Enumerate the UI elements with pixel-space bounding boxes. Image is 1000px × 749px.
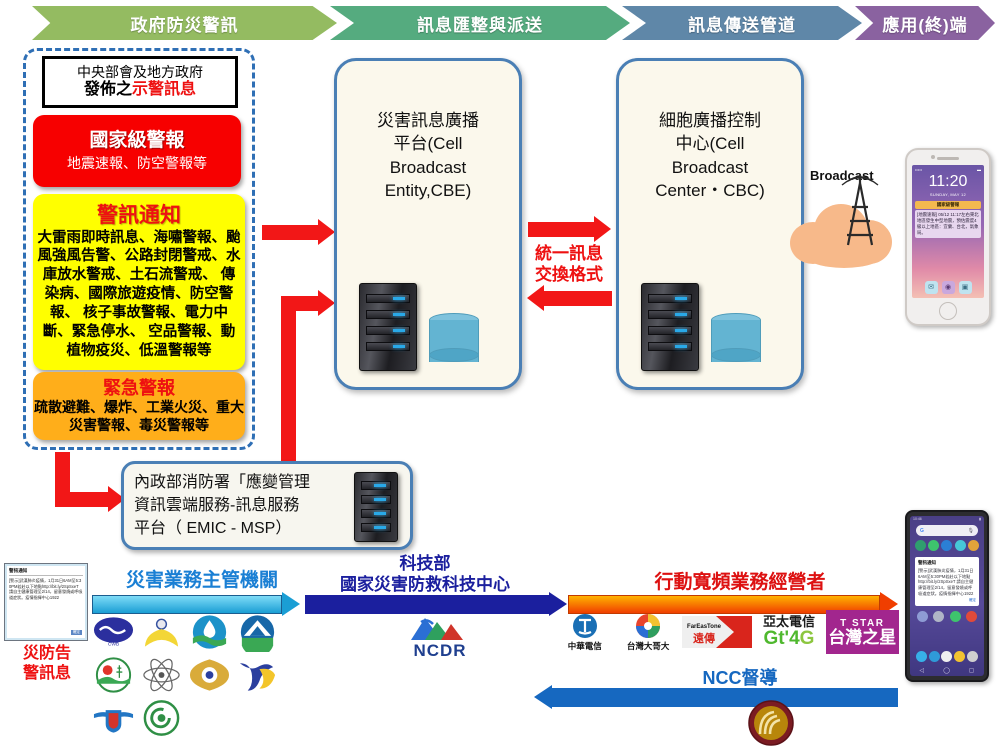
front-camera-icon: [931, 155, 935, 159]
stage-banner-aggregation-dispatch: 訊息匯整與派送: [330, 6, 630, 40]
agency-logo-row: [92, 655, 282, 695]
camera-icon[interactable]: ▣: [959, 281, 972, 294]
android-alert-ok-button[interactable]: 確定: [918, 598, 976, 603]
android-alert-title: 警訊通知: [918, 560, 976, 566]
agency-logo-row: [92, 698, 282, 738]
agency-logo-cluster: CWB: [92, 612, 282, 741]
earpiece-speaker: [937, 157, 959, 160]
red-arrow-elbow-horizontal: [281, 296, 320, 311]
android-status-bar: 10:46 ▮: [910, 516, 984, 522]
agency-logo-row: CWB: [92, 612, 282, 652]
recents-icon[interactable]: ▢: [969, 667, 975, 674]
iphone-status-bar: ••••• ▬: [912, 165, 984, 172]
red-arrow-cbe-to-cbc-head: [594, 216, 611, 242]
central-weather-bureau-logo: CWB: [92, 612, 135, 652]
svg-text:CWB: CWB: [108, 642, 119, 648]
notification-sample-ok-button[interactable]: 確定: [71, 630, 82, 635]
notification-sample-caption: 災防告 警訊息: [8, 644, 86, 684]
fareastone-icon: FarEasTone 遠傳: [682, 612, 752, 652]
notification-sample-title: 警訊通知: [9, 568, 83, 576]
database-cylinder-icon: [429, 313, 479, 369]
emic-msp-box: 內政部消防署「應變管理 資訊雲端服務-訊息服務 平台（ EMIC - MSP）: [121, 461, 413, 550]
iphone-alert-title: 國家級警報: [915, 201, 981, 209]
carrier-apt-gt4g: 亞太電信 Gt'4G: [754, 609, 823, 655]
google-search-bar[interactable]: G 🎙: [916, 525, 978, 536]
exchange-format-line1: 統一訊息: [524, 243, 614, 264]
red-arrow-cbc-to-cbe-head: [527, 285, 544, 311]
home-icon[interactable]: ◯: [943, 667, 950, 674]
taiwan-mobile-icon: [635, 613, 661, 639]
national-fire-agency-logo: [140, 612, 183, 652]
stage-banner-delivery-channel: 訊息傳送管道: [622, 6, 862, 40]
chrome-app-icon[interactable]: [954, 651, 965, 662]
svg-text:遠傳: 遠傳: [693, 631, 715, 645]
flow-title-ncdr: 科技部 國家災害防救科技中心: [300, 553, 550, 596]
notification-sample-inner: 警訊通知 [警示]武漢肺炎疫情，1月31日6AM至5:30PM若赴以下地點htt…: [7, 566, 85, 638]
alert-card-body: 地震速報、防空警報等: [67, 155, 207, 173]
server-rack-icon: [359, 283, 417, 371]
iphone-alert-body: [地震速報] 05/12 11:17左右東北地區發生中型地震，預估震度4級以上地…: [915, 210, 981, 238]
gmail-app-icon[interactable]: [941, 651, 952, 662]
alert-card-body: 疏散避難、爆炸、工業火災、重大災害警報、毒災警報等: [33, 399, 245, 434]
ncdr-wordmark: NCDR: [413, 642, 466, 659]
android-screen: 10:46 ▮ G 🎙 警訊通知 [警示]武漢肺炎疫情，1月31日6AM至5:3…: [910, 516, 984, 676]
red-arrow-elbow-head: [318, 290, 335, 316]
android-alert-popup: 警訊通知 [警示]武漢肺炎疫情，1月31日6AM至5:30PM若赴以下地點htt…: [915, 557, 979, 606]
carrier-taiwan-mobile: 台灣大哥大: [617, 609, 678, 655]
database-cylinder-icon: [711, 313, 761, 369]
chunghwa-telecom-icon: [571, 613, 599, 639]
phone-app-icon[interactable]: [916, 651, 927, 662]
flow-title-mobile-operators: 行動寬頻業務經營者: [600, 567, 880, 594]
source-group-title-highlight: 示警訊息: [132, 81, 196, 98]
android-alert-body: [警示]武漢肺炎疫情，1月31日6AM至5:30PM若赴以下地點http://b…: [918, 568, 976, 596]
carrier-label: 台灣大哥大: [627, 640, 670, 652]
android-app-row-1: [914, 540, 980, 551]
flow-title-disaster-authority: 災害業務主管機關: [92, 565, 312, 592]
alert-card-title: 緊急警報: [103, 378, 175, 400]
ministry-of-national-defense-logo: [188, 655, 231, 695]
ministry-of-transportation-logo: [92, 698, 135, 738]
stage-banner-government-alert: 政府防災警訊: [32, 6, 337, 40]
lockscreen-date: SUNDAY, MAY 12: [912, 192, 984, 197]
battery-icon: ▬: [977, 167, 981, 172]
server-rack-icon: [354, 472, 398, 542]
red-arrow-top-shaft: [262, 225, 320, 240]
notification-caption-line2: 警訊息: [8, 664, 86, 684]
iphone-screen: ••••• ▬ 11:20 SUNDAY, MAY 12 國家級警報 [地震速報…: [912, 165, 984, 298]
panel-cbc-title: 細胞廣播控制 中心(Cell Broadcast Center・CBC): [619, 109, 801, 203]
settings-app-icon[interactable]: [933, 611, 944, 622]
svg-text:FarEasTone: FarEasTone: [687, 624, 722, 630]
battery-icon: ▮: [979, 517, 981, 521]
chunghwa-app-icon[interactable]: [941, 540, 952, 551]
ncdr-logo: NCDR: [385, 612, 495, 660]
gt4g-wordmark: Gt'4G: [763, 629, 814, 649]
emic-line2: 資訊雲端服務-訊息服務: [134, 494, 349, 517]
playstore-app-icon[interactable]: [950, 611, 961, 622]
panel-cbe-title: 災害訊息廣播 平台(Cell Broadcast Entity,CBE): [337, 109, 519, 203]
alert-card-emergency-alert: 緊急警報 疏散避難、爆炸、工業火災、重大災害警報、毒災警報等: [33, 372, 245, 440]
sms-app-icon[interactable]: [929, 651, 940, 662]
carrier-chunghwa-telecom: 中華電信: [554, 609, 615, 655]
emic-msp-text: 內政部消防署「應變管理 資訊雲端服務-訊息服務 平台（ EMIC - MSP）: [134, 471, 349, 541]
taiwanmobile-app-icon[interactable]: [955, 540, 966, 551]
youtube-app-icon[interactable]: [966, 611, 977, 622]
carrier-label: 中華電信: [568, 640, 602, 652]
mic-icon[interactable]: 🎙: [968, 528, 974, 534]
signal-dots-icon: •••••: [915, 167, 922, 172]
google-g-icon: G: [920, 528, 924, 534]
carrier-tstar: T STAR 台灣之星: [826, 610, 899, 654]
atomic-energy-council-logo: [140, 655, 183, 695]
camera-app-icon[interactable]: [915, 540, 926, 551]
alert-card-alert-notification: 警訊通知 大雷雨即時訊息、海嘯警報、颱風強風告警、公路封閉警戒、水庫放水警戒、土…: [33, 194, 245, 370]
carrier-label: 台灣之星: [828, 629, 896, 647]
water-resources-agency-logo: [188, 612, 231, 652]
alert-card-title: 國家級警報: [89, 130, 184, 153]
ncc-logo: [748, 700, 794, 746]
camera2-app-icon[interactable]: [967, 651, 978, 662]
iphone-dock: ✉ ◉ ▣: [912, 281, 984, 294]
source-group-title-box: 中央部會及地方政府 發佈之示警訊息: [42, 56, 238, 108]
source-group-title-prefix: 發佈之: [84, 81, 132, 98]
red-arrow-to-emic-shaft: [55, 452, 70, 492]
browser-icon[interactable]: ◉: [942, 281, 955, 294]
red-arrow-elbow-vertical: [281, 296, 296, 466]
emic-line1: 內政部消防署「應變管理: [134, 471, 349, 494]
mail-icon[interactable]: ✉: [925, 281, 938, 294]
android-app-row-2: [914, 611, 980, 622]
android-mockup: 10:46 ▮ G 🎙 警訊通知 [警示]武漢肺炎疫情，1月31日6AM至5:3…: [905, 510, 989, 682]
diagram-canvas: 政府防災警訊 訊息匯整與派送 訊息傳送管道 應用(終)端 中央部會及地方政府 發…: [0, 0, 1000, 749]
gallery-app-icon[interactable]: [968, 540, 979, 551]
lockscreen-clock: 11:20: [912, 174, 984, 190]
flow-arrow-ncc-supervision: [534, 685, 898, 710]
server-rack-icon: [641, 283, 699, 371]
android-dock: [910, 651, 984, 662]
iphone-mockup: ••••• ▬ 11:20 SUNDAY, MAY 12 國家級警報 [地震速報…: [905, 148, 991, 326]
stage-label: 應用(終)端: [882, 11, 967, 36]
stage-label: 訊息匯整與派送: [417, 11, 543, 36]
source-group-title-line1: 中央部會及地方政府: [77, 64, 203, 80]
alert-card-national-alert: 國家級警報 地震速報、防空警報等: [33, 115, 241, 187]
broadcast-tower-icon: [838, 175, 882, 249]
notification-caption-line1: 災防告: [8, 644, 86, 664]
red-arrow-to-emic-shaft2: [55, 492, 110, 507]
messages-app-icon[interactable]: [928, 540, 939, 551]
source-group-title-line2: 發佈之示警訊息: [84, 80, 196, 99]
carrier-label: 亞太電信: [763, 615, 815, 628]
alert-card-title: 警訊通知: [97, 203, 181, 228]
soil-water-conservation-logo: [236, 612, 279, 652]
stage-banner-application-terminal: 應用(終)端: [855, 6, 995, 40]
google-folder-icon[interactable]: [917, 611, 928, 622]
emic-line3: 平台（ EMIC - MSP）: [134, 517, 349, 540]
stage-label: 政府防災警訊: [131, 11, 239, 36]
council-of-agriculture-logo: [236, 655, 279, 695]
carrier-fareastone: FarEasTone 遠傳: [681, 609, 752, 655]
android-nav-bar: ◁ ◯ ▢: [910, 667, 984, 674]
red-arrow-top-head: [318, 219, 335, 245]
notification-sample-card: 警訊通知 [警示]武漢肺炎疫情，1月31日6AM至5:30PM若赴以下地點htt…: [4, 563, 88, 641]
red-arrow-cbe-to-cbc-shaft: [528, 222, 596, 237]
tstar-wordmark: T STAR: [840, 618, 884, 629]
android-clock: 10:46: [913, 517, 922, 521]
alert-card-body: 大雷雨即時訊息、海嘯警報、颱風強風告警、公路封閉警戒、水庫放水警戒、土石流警戒、…: [33, 229, 245, 361]
exchange-format-line2: 交換格式: [524, 264, 614, 285]
stage-label: 訊息傳送管道: [688, 11, 796, 36]
home-button[interactable]: [939, 302, 957, 320]
environmental-protection-admin-logo: [92, 655, 135, 695]
ncdr-mark-icon: [407, 614, 473, 642]
exchange-format-label: 統一訊息 交換格式: [524, 243, 614, 286]
notification-sample-body: [警示]武漢肺炎疫情，1月31日6AM至5:30PM若赴以下地點http://b…: [9, 578, 83, 601]
red-arrow-cbc-to-cbe-shaft: [544, 291, 612, 306]
carrier-logo-row: 中華電信 台灣大哥大 FarEasTone 遠傳 亞太電信 Gt'4G: [554, 608, 899, 656]
centers-disease-control-logo: [140, 698, 183, 738]
back-icon[interactable]: ◁: [919, 667, 924, 674]
panel-cbc: 細胞廣播控制 中心(Cell Broadcast Center・CBC): [616, 58, 804, 390]
panel-cbe: 災害訊息廣播 平台(Cell Broadcast Entity,CBE): [334, 58, 522, 390]
